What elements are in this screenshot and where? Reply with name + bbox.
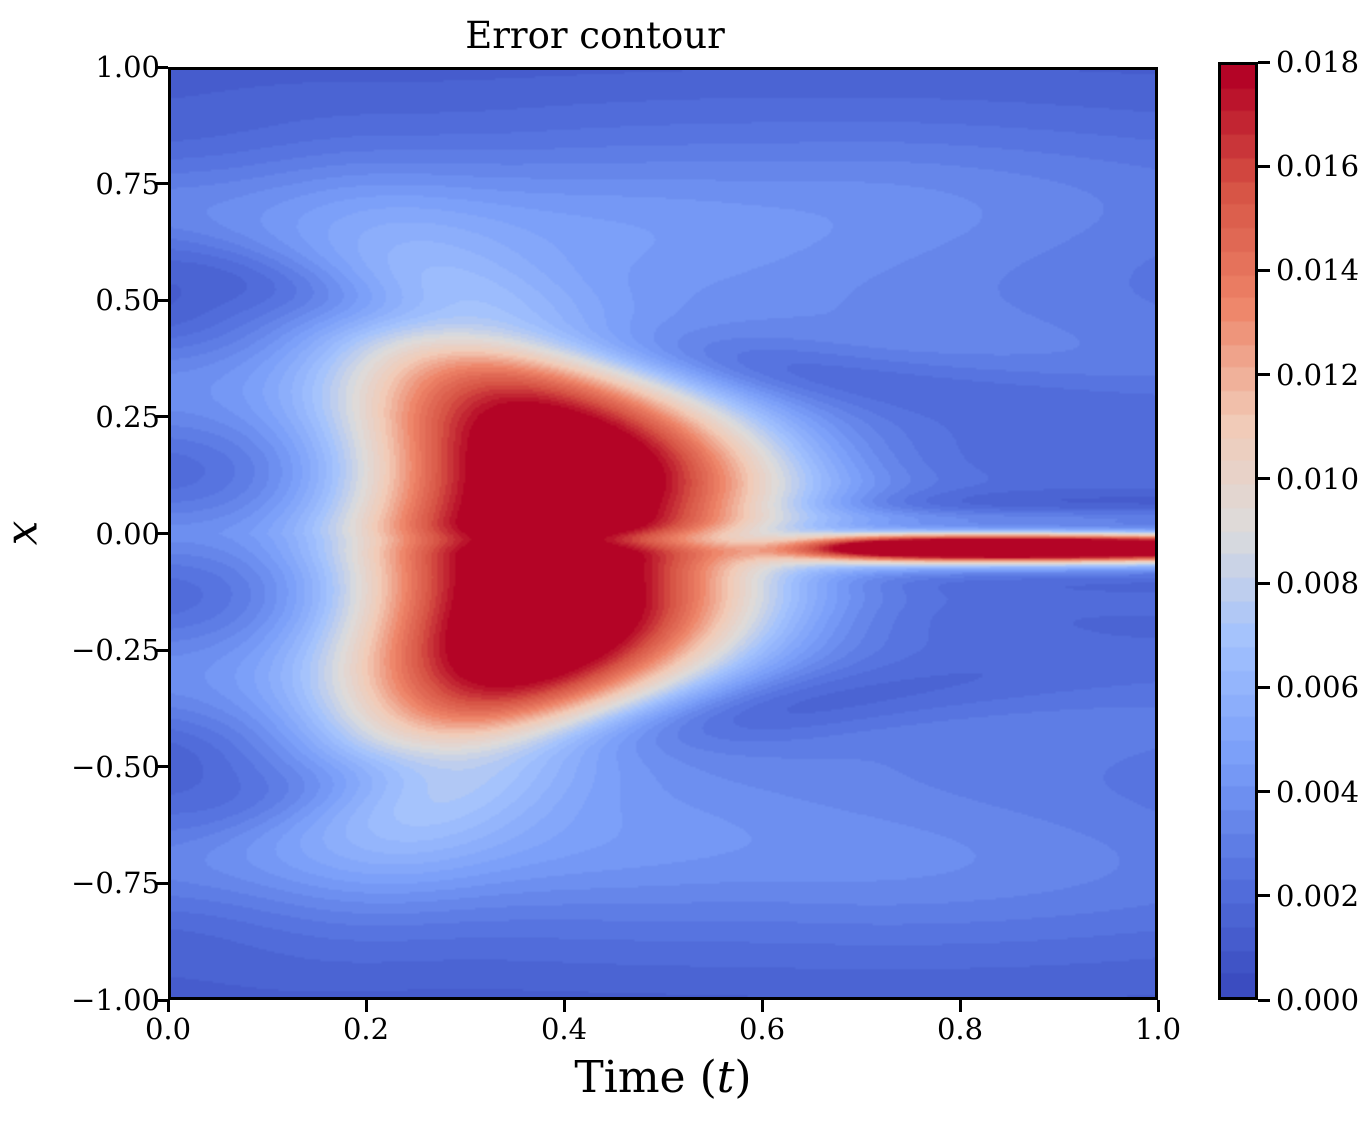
y-tick-label: 1.00 [95, 50, 160, 84]
x-tick-mark [563, 1000, 566, 1012]
x-axis-title-variable: t [717, 1052, 735, 1103]
x-axis-title: Time (t) [574, 1052, 751, 1103]
colorbar-tick-label: 0.008 [1276, 566, 1359, 600]
x-axis-title-prefix: Time ( [574, 1052, 716, 1103]
x-tick-label: 1.0 [1135, 1012, 1181, 1046]
x-tick-label: 0.6 [739, 1012, 785, 1046]
x-tick-label: 0.0 [145, 1012, 191, 1046]
heatmap-canvas [171, 70, 1155, 997]
y-tick-mark [156, 649, 168, 652]
y-tick-label: −0.50 [71, 750, 160, 784]
x-tick-mark [167, 1000, 170, 1012]
y-tick-label: 0.50 [95, 283, 160, 317]
colorbar [1218, 62, 1258, 1000]
colorbar-tick-label: 0.002 [1276, 879, 1359, 913]
y-tick-mark [156, 182, 168, 185]
colorbar-tick-mark [1258, 165, 1270, 168]
colorbar-tick-label: 0.000 [1276, 983, 1359, 1017]
colorbar-tick-mark [1258, 582, 1270, 585]
y-axis-title: x [0, 521, 48, 546]
y-tick-label: −0.75 [71, 866, 160, 900]
chart-title: Error contour [0, 14, 1190, 58]
colorbar-canvas [1221, 65, 1255, 997]
colorbar-tick-mark [1258, 894, 1270, 897]
colorbar-tick-label: 0.010 [1276, 462, 1359, 496]
x-tick-mark [959, 1000, 962, 1012]
figure-root: Error contour 1.000.750.500.250.00−0.25−… [0, 0, 1368, 1127]
y-tick-label: 0.25 [95, 400, 160, 434]
y-tick-label: −0.25 [71, 633, 160, 667]
x-tick-mark [1157, 1000, 1160, 1012]
y-tick-mark [156, 765, 168, 768]
y-tick-mark [156, 882, 168, 885]
x-tick-label: 0.2 [343, 1012, 389, 1046]
y-tick-mark [156, 532, 168, 535]
colorbar-tick-label: 0.004 [1276, 775, 1359, 809]
x-axis-title-suffix: ) [734, 1052, 751, 1103]
colorbar-tick-label: 0.018 [1276, 45, 1359, 79]
colorbar-tick-label: 0.012 [1276, 358, 1359, 392]
colorbar-tick-label: 0.006 [1276, 670, 1359, 704]
error-field-heatmap [171, 70, 1155, 997]
colorbar-tick-label: 0.014 [1276, 253, 1359, 287]
x-tick-label: 0.4 [541, 1012, 587, 1046]
y-tick-label: 0.00 [95, 517, 160, 551]
x-tick-mark [761, 1000, 764, 1012]
contour-plot-axes [168, 67, 1158, 1000]
colorbar-tick-mark [1258, 269, 1270, 272]
y-tick-mark [156, 299, 168, 302]
x-tick-mark [365, 1000, 368, 1012]
colorbar-tick-mark [1258, 373, 1270, 376]
x-tick-label: 0.8 [937, 1012, 983, 1046]
y-tick-mark [156, 66, 168, 69]
colorbar-tick-mark [1258, 999, 1270, 1002]
colorbar-tick-mark [1258, 790, 1270, 793]
y-tick-mark [156, 415, 168, 418]
colorbar-tick-label: 0.016 [1276, 149, 1359, 183]
colorbar-tick-mark [1258, 477, 1270, 480]
colorbar-tick-mark [1258, 61, 1270, 64]
y-tick-label: 0.75 [95, 167, 160, 201]
colorbar-tick-mark [1258, 686, 1270, 689]
